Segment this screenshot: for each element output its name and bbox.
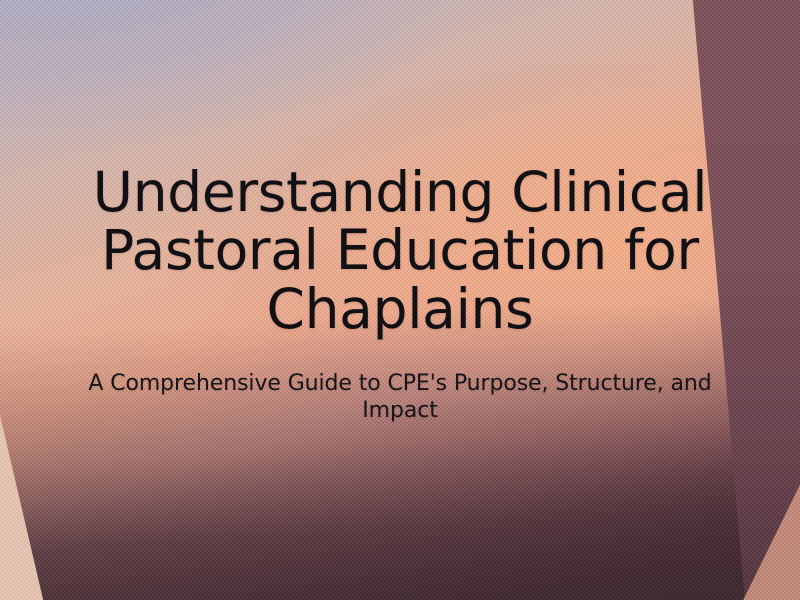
slide-title: Understanding Clinical Pastoral Educatio…: [80, 163, 720, 338]
slide-content: Understanding Clinical Pastoral Educatio…: [0, 0, 800, 600]
title-slide: Understanding Clinical Pastoral Educatio…: [0, 0, 800, 600]
slide-subtitle: A Comprehensive Guide to CPE's Purpose, …: [50, 371, 750, 425]
